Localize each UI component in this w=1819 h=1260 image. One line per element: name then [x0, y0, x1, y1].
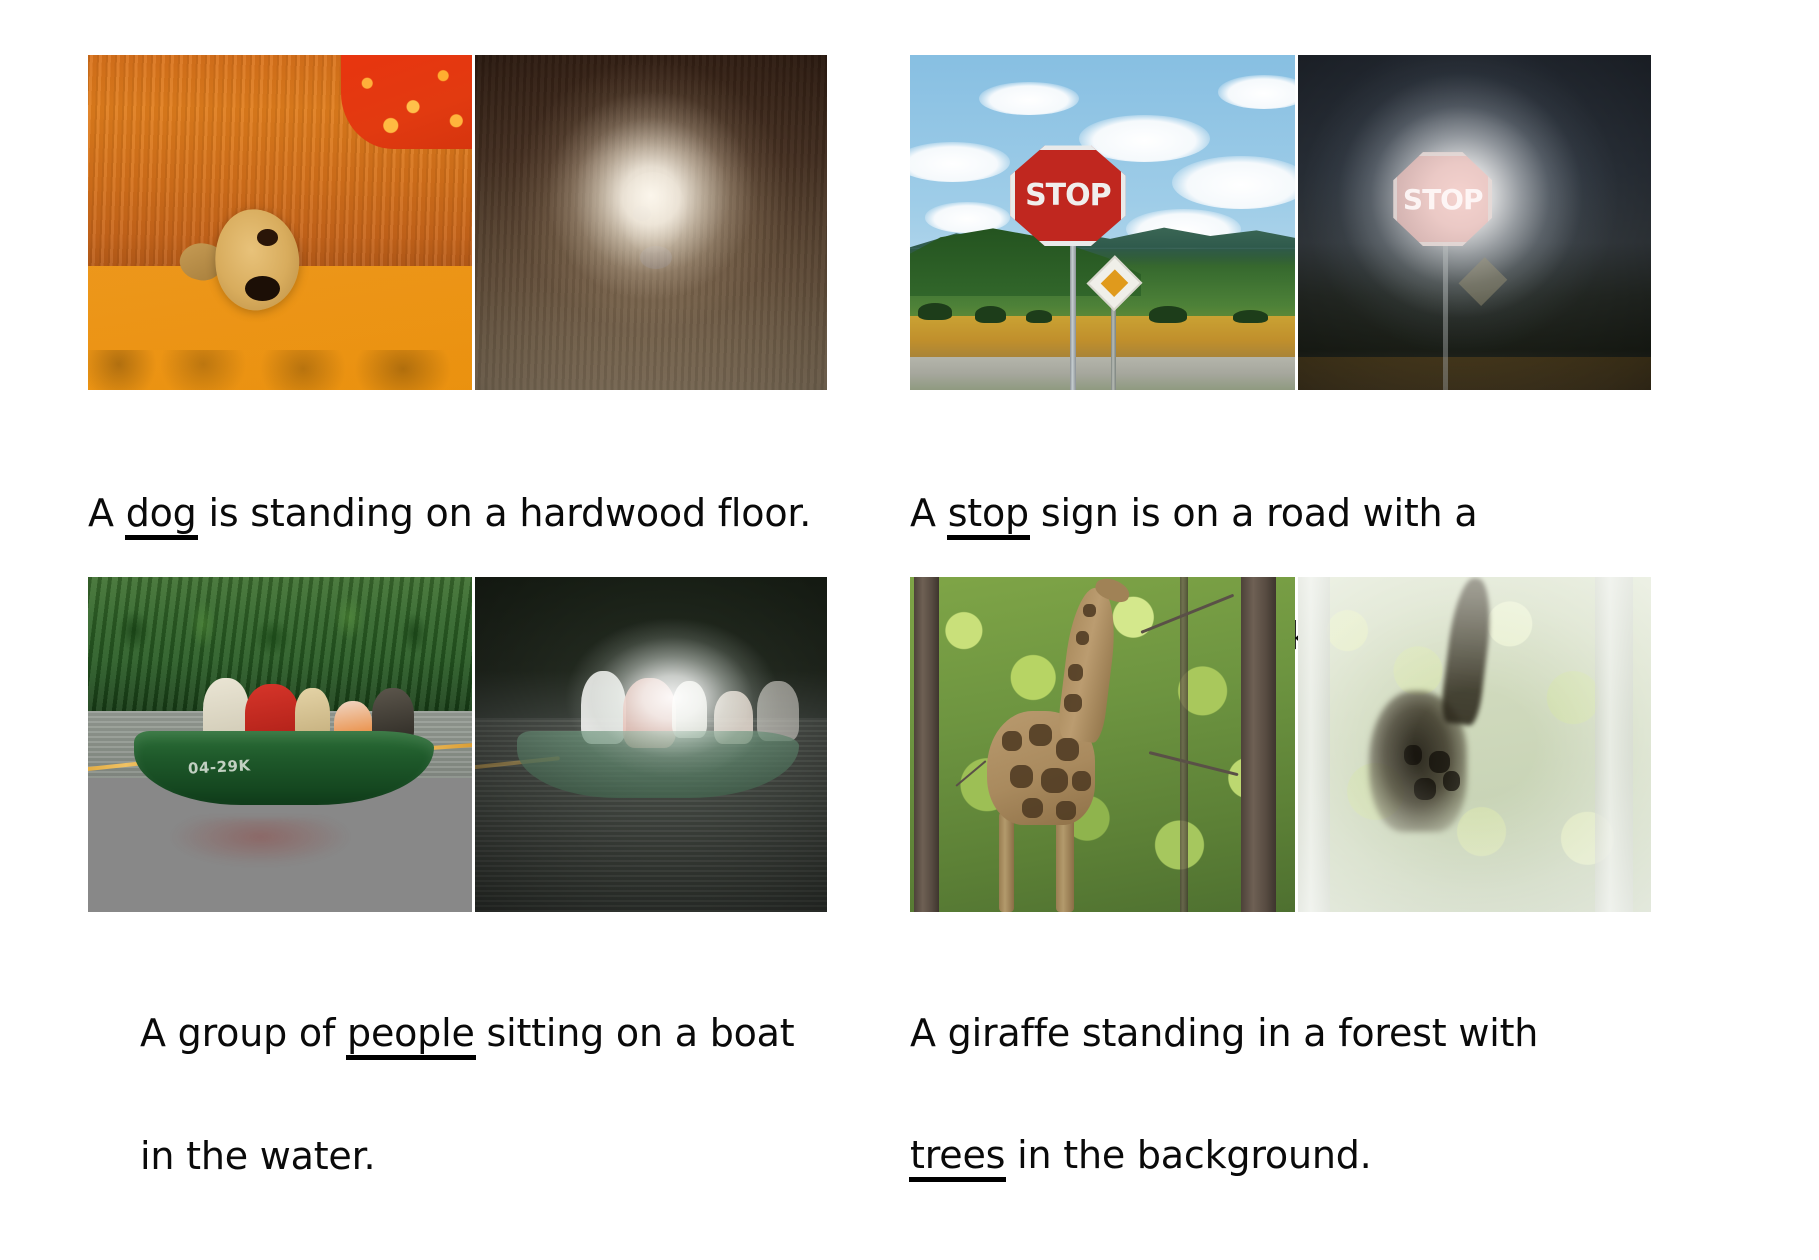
giraffe-spot [1010, 765, 1033, 788]
attention-haze-giraffe [1298, 577, 1651, 912]
grounded-word-trees: trees [910, 1135, 1005, 1177]
caption-text-pre: A [910, 491, 948, 535]
giraffe-spot [1083, 604, 1095, 617]
giraffe-spot [1002, 731, 1021, 751]
caption-giraffe: A giraffe standing in a forest with tree… [910, 932, 1700, 1258]
giraffe-spot [1056, 738, 1079, 761]
caption-text-post: sitting on a boat [475, 1011, 795, 1055]
attention-overlay-stop-sign: STOP [1298, 55, 1651, 390]
giraffe-spot [1068, 664, 1083, 681]
bush [1026, 310, 1053, 323]
road [910, 357, 1295, 391]
attention-overlay-dog [475, 55, 827, 390]
bush [918, 303, 953, 320]
attention-overlay-giraffe [1298, 577, 1651, 912]
bush [975, 306, 1006, 323]
original-image-boat: 04-29K [88, 577, 472, 912]
diamond-inner [1100, 269, 1128, 297]
vignette-stop-sign [1298, 55, 1651, 390]
giraffe-spot [1029, 724, 1052, 746]
caption-text-pre: A giraffe standing in a forest with [910, 1011, 1538, 1055]
caption-text-post: is standing on a hardwood floor. [197, 491, 812, 535]
grounded-word-people: people [347, 1013, 475, 1055]
caption-line: trees in the background. [910, 1135, 1700, 1177]
dog-eye [257, 229, 278, 246]
bush [1149, 306, 1188, 323]
cloud [1218, 75, 1295, 109]
giraffe-leg-front [999, 812, 1014, 913]
tree-trunk-thin [1180, 577, 1188, 912]
attention-overlay-boat [475, 577, 827, 912]
red-patterned-valance [341, 55, 472, 149]
caption-line: A group of people sitting on a boat [140, 1013, 878, 1055]
caption-boat: A group of people sitting on a boat in t… [140, 932, 878, 1258]
green-rowboat-hull [134, 731, 434, 805]
giraffe-spot [1056, 801, 1075, 819]
caption-line: A stop sign is on a road with a [910, 493, 1700, 535]
attention-grounding-figure: A dog is standing on a hardwood floor. [0, 0, 1819, 1099]
grounded-word-stop: stop [948, 493, 1029, 535]
giraffe-leg-back [1056, 812, 1073, 913]
boat-registration-number: 04-29K [187, 756, 250, 777]
grounded-word-dog: dog [126, 493, 197, 535]
original-image-dog [88, 55, 472, 390]
cloud [925, 202, 1010, 232]
giraffe-spot [1076, 631, 1090, 646]
giraffe-spot [1064, 694, 1082, 712]
caption-text-post: in the background. [1005, 1133, 1371, 1177]
tree-trunk-left [914, 577, 939, 912]
original-image-stop-sign: STOP [910, 55, 1295, 390]
vignette-boat [475, 577, 827, 912]
bush [1233, 310, 1268, 323]
stop-sign-pole [1070, 243, 1076, 390]
caption-line: A dog is standing on a hardwood floor. [88, 493, 878, 535]
example-cell-boat: 04-29K A group of people sitting on a bo… [88, 577, 878, 1258]
water-reflection [172, 818, 349, 865]
tree-trunk-right [1241, 577, 1276, 912]
caption-line: A giraffe standing in a forest with [910, 1013, 1700, 1054]
caption-text-pre: in the water. [140, 1134, 375, 1178]
giraffe-spot [1072, 771, 1091, 791]
panel-pair-boat: 04-29K [88, 577, 878, 912]
caption-line: in the water. [140, 1136, 878, 1177]
vignette-dog [475, 55, 827, 390]
giraffe-spot [1041, 768, 1068, 793]
panel-pair-stop-sign: STOP STOP [910, 55, 1700, 390]
example-cell-giraffe: A giraffe standing in a forest with tree… [910, 577, 1700, 1258]
caption-text-pre: A group of [140, 1011, 347, 1055]
secondary-sign-pole [1111, 300, 1115, 390]
dog-nose [245, 276, 280, 301]
curtain-hem-shadow [88, 350, 472, 390]
giraffe-spot [1022, 798, 1043, 818]
original-image-giraffe [910, 577, 1295, 912]
example-cell-dog: A dog is standing on a hardwood floor. [88, 55, 878, 616]
panel-pair-dog [88, 55, 878, 390]
caption-text-post: sign is on a road with a [1029, 491, 1477, 535]
panel-pair-giraffe [910, 577, 1700, 912]
stop-sign-label: STOP [1025, 178, 1111, 213]
caption-text-pre: A [88, 491, 126, 535]
